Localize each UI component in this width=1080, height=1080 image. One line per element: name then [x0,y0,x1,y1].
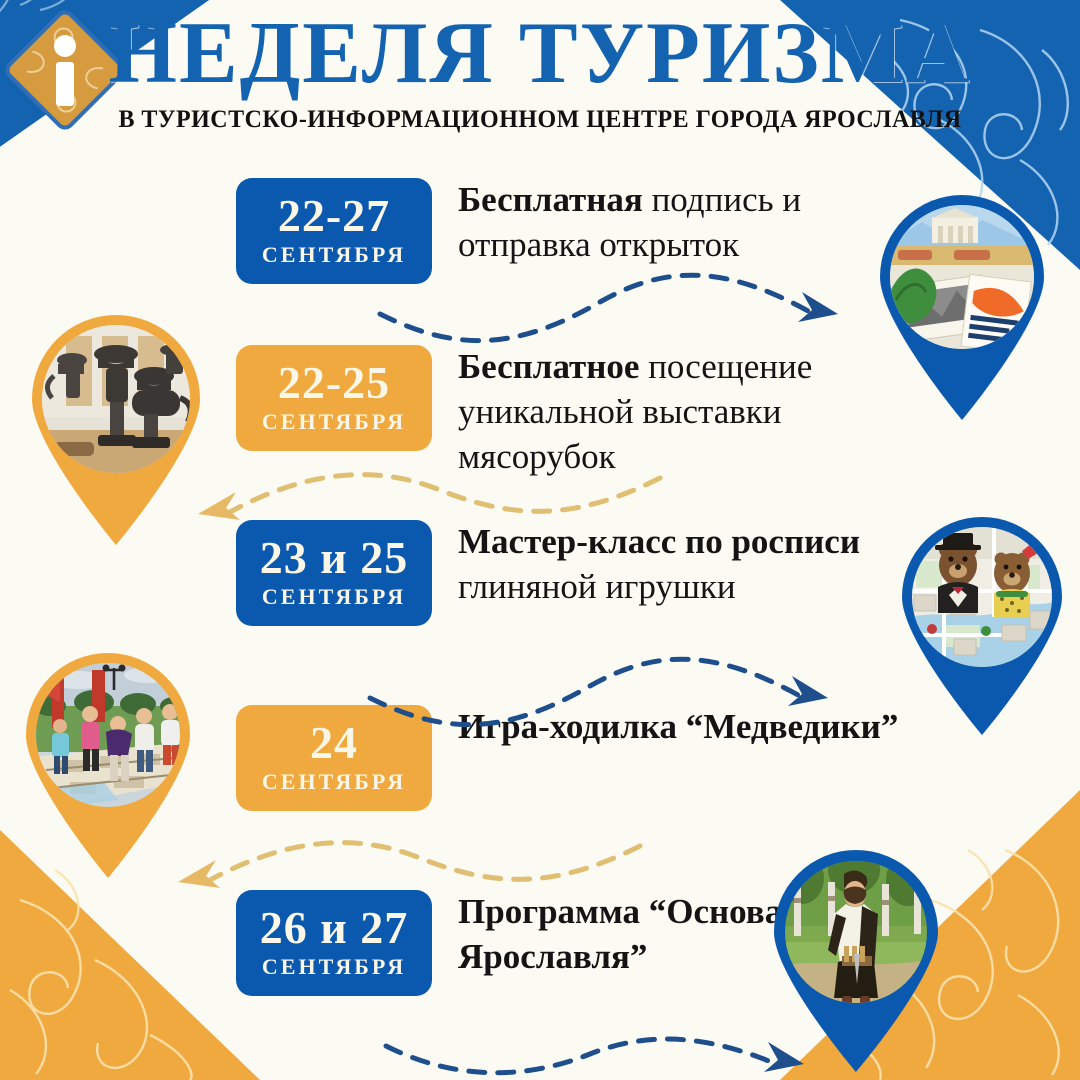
event-days-2: 22-25 [242,359,426,407]
event-row-3: 23 и 25 СЕНТЯБРЯ Мастер-класс по росписи… [236,520,908,626]
event-row-4: 24 СЕНТЯБРЯ Игра-ходилка “Медведики” [236,705,898,811]
page-subtitle: В ТУРИСТСКО-ИНФОРМАЦИОННОМ ЦЕНТРЕ ГОРОДА… [22,106,1059,134]
page-title: НЕДЕЛЯ ТУРИЗМА [0,10,1080,98]
event-description-bold-1: Бесплатная [458,180,643,219]
event-month-5: СЕНТЯБРЯ [242,954,426,980]
event-description-2: Бесплатное посещение уникальной выставки… [458,345,908,479]
event-row-1: 22-27 СЕНТЯБРЯ Бесплатная подпись и отпр… [236,178,908,284]
event-date-badge-4: 24 СЕНТЯБРЯ [236,705,432,811]
event-date-badge-2: 22-25 СЕНТЯБРЯ [236,345,432,451]
event-description-3: Мастер-класс по росписи глиняной игрушки [458,520,908,610]
event-month-1: СЕНТЯБРЯ [242,242,426,268]
event-month-4: СЕНТЯБРЯ [242,769,426,795]
header: НЕДЕЛЯ ТУРИЗМА В ТУРИСТСКО-ИНФОРМАЦИОННО… [0,10,1080,134]
event-description-4: Игра-ходилка “Медведики” [458,705,898,750]
event-description-bold-4: Игра-ходилка “Медведики” [458,707,898,746]
event-days-5: 26 и 27 [242,904,426,952]
event-description-regular-3: глиняной игрушки [458,567,736,606]
event-month-3: СЕНТЯБРЯ [242,584,426,610]
poster-canvas: НЕДЕЛЯ ТУРИЗМА В ТУРИСТСКО-ИНФОРМАЦИОННО… [0,0,1080,1080]
event-description-bold-3: Мастер-класс по росписи [458,522,860,561]
event-photo-pin-1 [862,182,1062,422]
event-row-2: 22-25 СЕНТЯБРЯ Бесплатное посещение уник… [236,345,908,479]
event-description-1: Бесплатная подпись и отправка открыток [458,178,908,268]
event-days-1: 22-27 [242,192,426,240]
event-date-badge-1: 22-27 СЕНТЯБРЯ [236,178,432,284]
event-days-3: 23 и 25 [242,534,426,582]
event-photo-pin-2 [14,302,219,547]
event-description-bold-2: Бесплатное [458,347,639,386]
event-photo-pin-4 [8,640,208,880]
event-month-2: СЕНТЯБРЯ [242,409,426,435]
event-date-badge-3: 23 и 25 СЕНТЯБРЯ [236,520,432,626]
event-photo-pin-3 [886,505,1078,737]
event-photo-pin-5 [758,838,954,1074]
event-date-badge-5: 26 и 27 СЕНТЯБРЯ [236,890,432,996]
event-days-4: 24 [242,719,426,767]
